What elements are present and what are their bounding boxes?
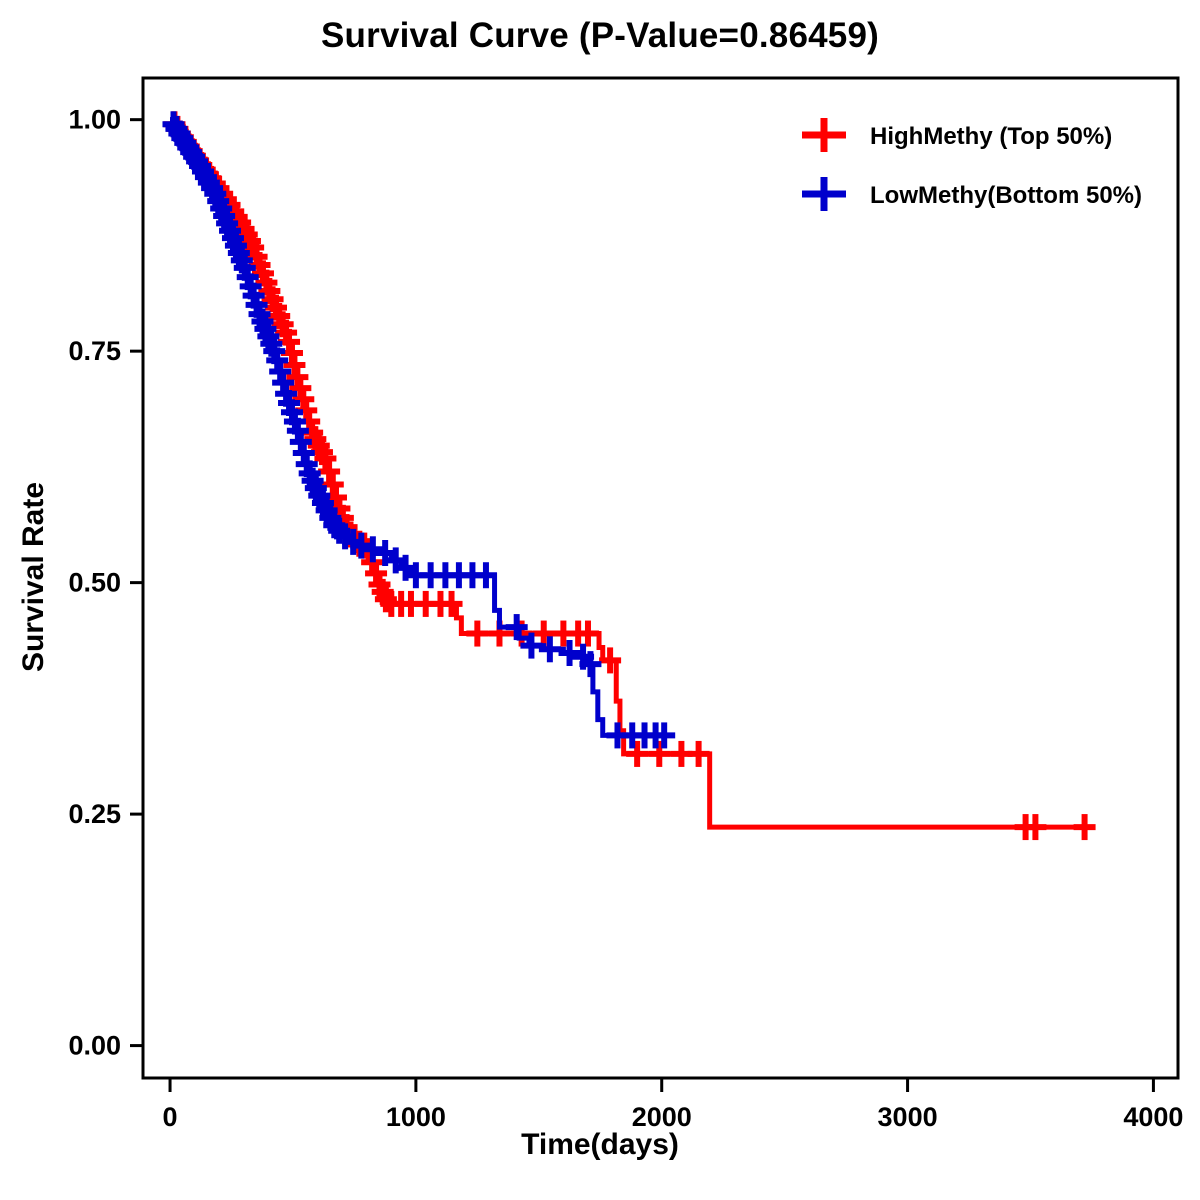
legend-item[interactable]: LowMethy(Bottom 50%)	[802, 177, 1142, 211]
y-tick-label: 1.00	[68, 105, 121, 135]
y-tick-label: 0.25	[68, 799, 121, 829]
chart-legend[interactable]: HighMethy (Top 50%)LowMethy(Bottom 50%)	[802, 118, 1142, 211]
x-tick-labels: 01000200030004000	[163, 1102, 1184, 1132]
x-tick-label: 4000	[1123, 1102, 1183, 1132]
axis-ticks	[130, 120, 1153, 1092]
plot-area: 0.000.250.500.751.00 01000200030004000 H…	[0, 0, 1200, 1200]
y-tick-label: 0.75	[68, 336, 121, 366]
data-series	[162, 111, 1095, 840]
y-tick-labels: 0.000.250.500.751.00	[68, 105, 121, 1061]
x-tick-label: 2000	[632, 1102, 692, 1132]
legend-label: HighMethy (Top 50%)	[870, 123, 1112, 150]
x-tick-label: 0	[163, 1102, 178, 1132]
x-tick-label: 3000	[878, 1102, 938, 1132]
legend-label: LowMethy(Bottom 50%)	[870, 182, 1142, 209]
axes	[143, 78, 1178, 1078]
y-tick-label: 0.00	[68, 1031, 121, 1061]
y-tick-label: 0.50	[68, 568, 121, 598]
legend-item[interactable]: HighMethy (Top 50%)	[802, 118, 1112, 152]
x-tick-label: 1000	[386, 1102, 446, 1132]
survival-chart: Survival Curve (P-Value=0.86459) Surviva…	[0, 0, 1200, 1200]
